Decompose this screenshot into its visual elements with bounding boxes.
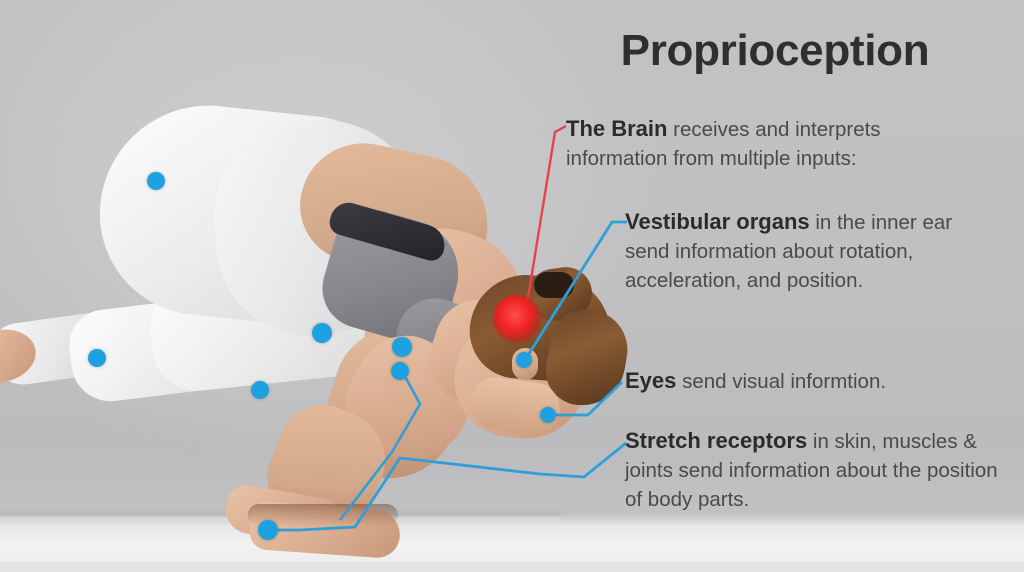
callout-eyes-heading: Eyes: [625, 368, 676, 393]
leader-line-brain: [522, 126, 566, 320]
callout-stretch: Stretch receptors in skin, muscles & joi…: [625, 426, 1003, 514]
ankle-marker: [88, 349, 106, 367]
callout-eyes-body: send visual informtion.: [676, 370, 886, 393]
infographic-canvas: Proprioception The Brain receives and in…: [0, 0, 1024, 572]
shin-marker: [251, 381, 269, 399]
knee-marker: [312, 323, 332, 343]
eye-marker: [540, 407, 556, 423]
shoulder-marker: [392, 337, 412, 357]
brain-marker: [493, 295, 541, 343]
callout-brain-heading: The Brain: [566, 116, 667, 141]
callout-vestibular-heading: Vestibular organs: [625, 209, 810, 234]
page-title: Proprioception: [565, 26, 985, 76]
leader-line-stretch: [268, 443, 626, 530]
wrist-marker: [258, 520, 278, 540]
leader-line-vestibular: [525, 222, 627, 360]
hip-marker: [147, 172, 165, 190]
elbow-marker: [391, 362, 409, 380]
inner-ear-marker: [516, 352, 532, 368]
leader-line-body-network: [340, 371, 420, 520]
callout-eyes: Eyes send visual informtion.: [625, 366, 1005, 396]
callout-stretch-heading: Stretch receptors: [625, 428, 807, 453]
callout-brain: The Brain receives and interprets inform…: [566, 114, 978, 173]
leader-line-eyes: [549, 382, 622, 415]
callout-vestibular: Vestibular organs in the inner ear send …: [625, 207, 995, 295]
